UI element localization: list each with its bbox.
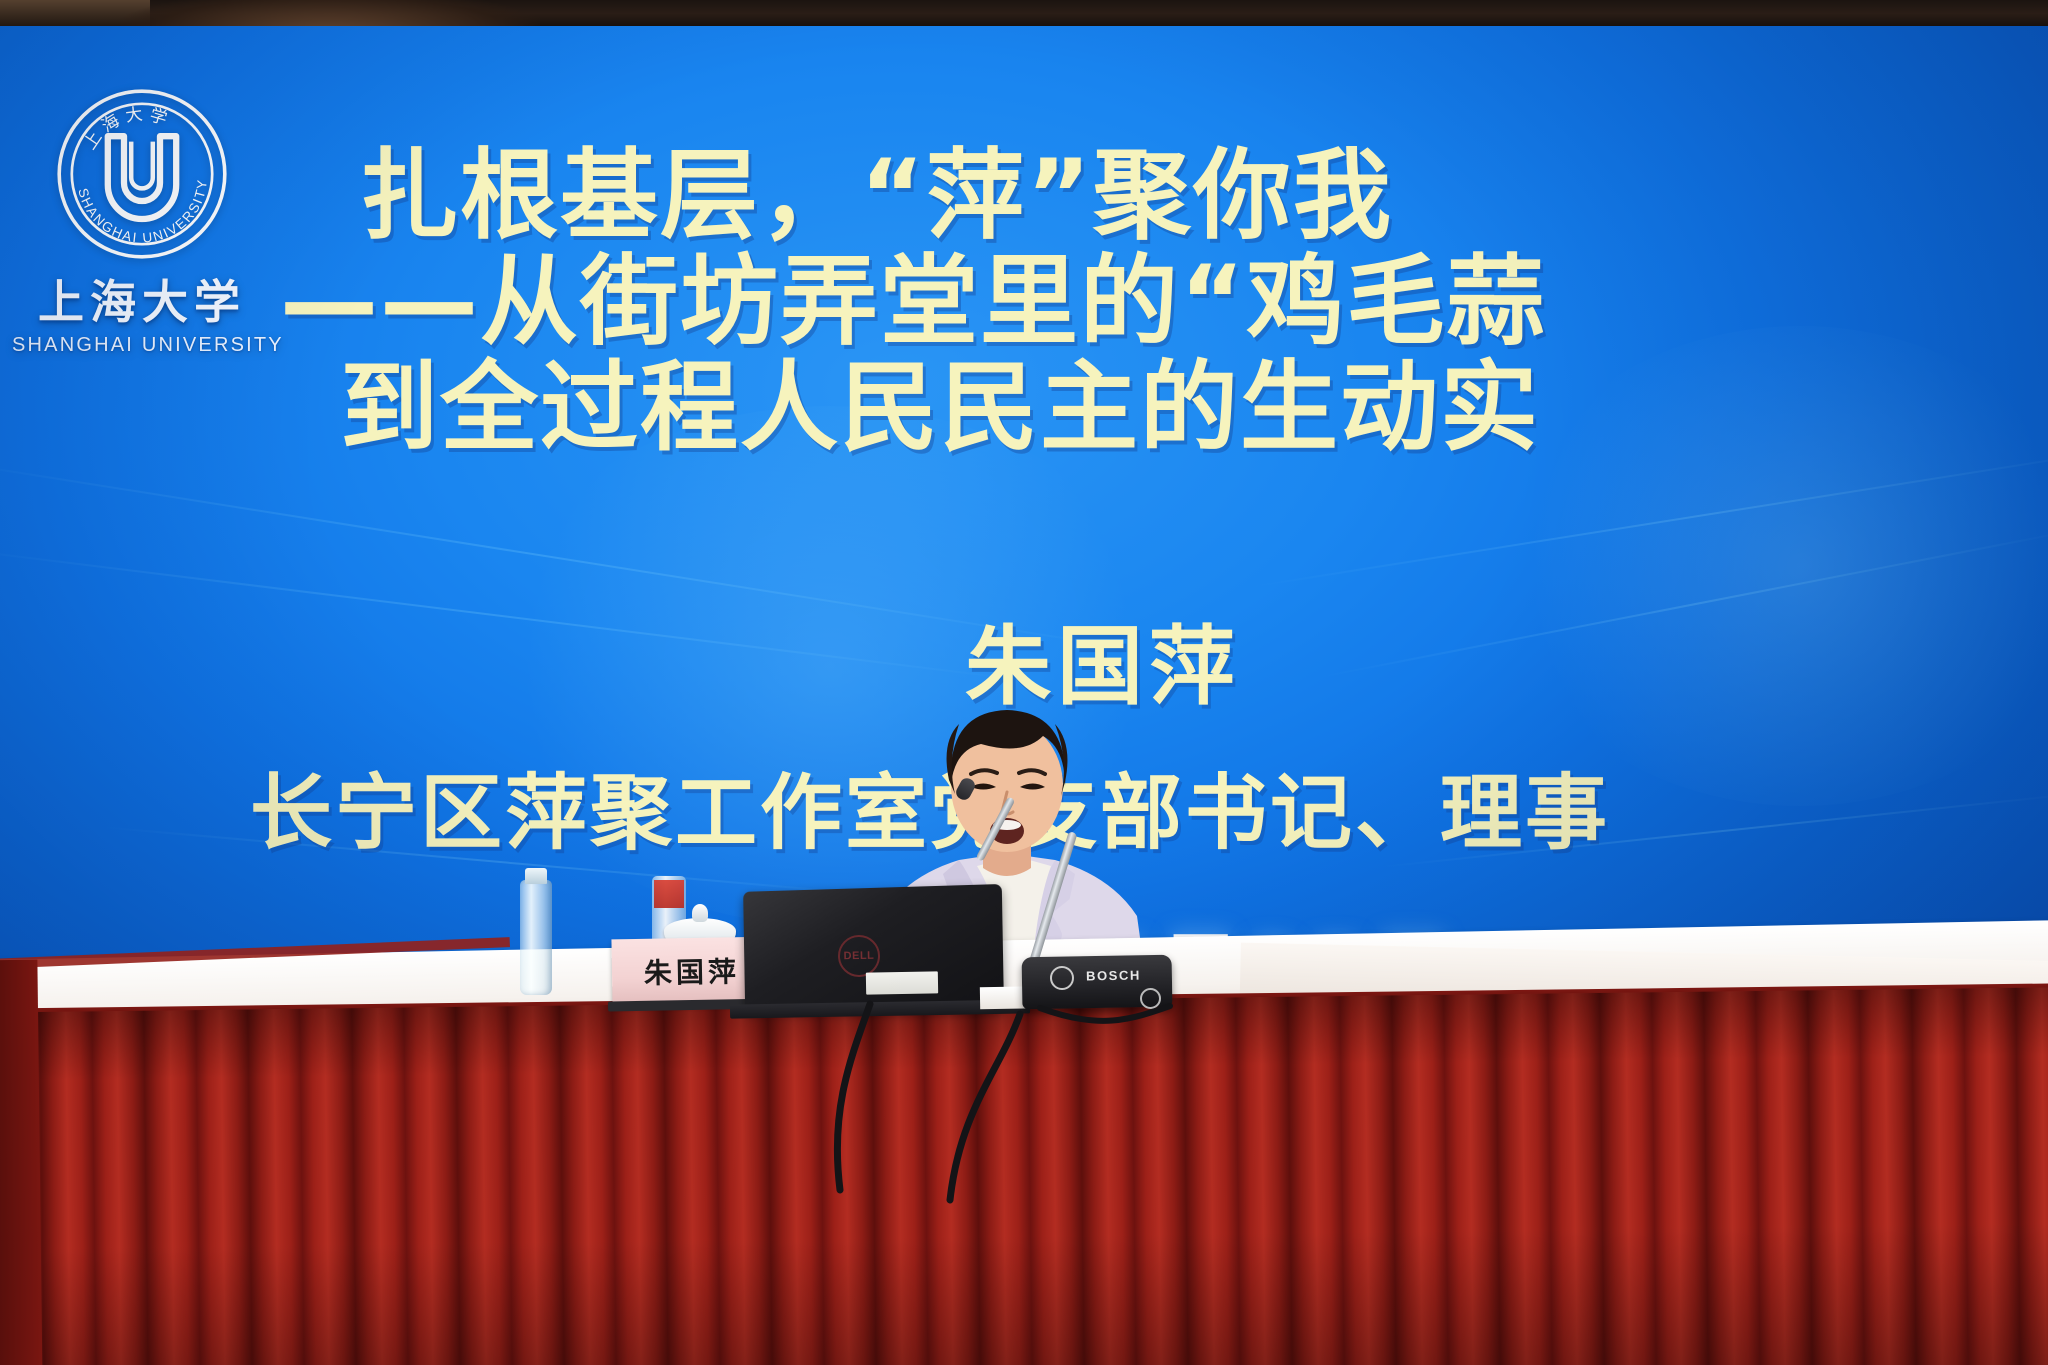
drink-bottle-label (654, 880, 684, 908)
university-name-cn: 上海大学 (12, 266, 272, 332)
university-name-en: SHANGHAI UNIVERSITY (12, 334, 272, 357)
headline-line-1: 扎根基层，“萍”聚你我 (360, 144, 2048, 250)
water-bottle-cap (525, 868, 547, 884)
lecture-photo-scene: 上 海 大 学 SHANGHAI UNIVERSITY 上海大学 SHANGHA… (0, 0, 2048, 1365)
light-ray (1250, 445, 2048, 588)
tea-cup-lid-knob (692, 904, 708, 922)
shanghai-university-emblem-icon: 上 海 大 学 SHANGHAI UNIVERSITY (52, 84, 232, 264)
desk-cables (700, 990, 1320, 1230)
desk-nameplate-text: 朱国萍 (644, 950, 741, 992)
headline-line-2: ——从街坊弄堂里的“鸡毛蒜 (280, 250, 2048, 356)
water-bottle (520, 880, 552, 995)
table-skirt-left-edge (0, 960, 43, 1365)
light-ray (0, 546, 1032, 682)
bosch-brand-label: BOSCH (1086, 968, 1141, 984)
light-ray (1320, 527, 2048, 678)
headline-line-3: 到全过程人民民主的生动实 (340, 356, 2048, 462)
university-logo: 上 海 大 学 SHANGHAI UNIVERSITY 上海大学 SHANGHA… (12, 84, 272, 357)
slide-headline: 扎根基层，“萍”聚你我 ——从街坊弄堂里的“鸡毛蒜 到全过程人民民主的生动实 (360, 144, 2048, 461)
